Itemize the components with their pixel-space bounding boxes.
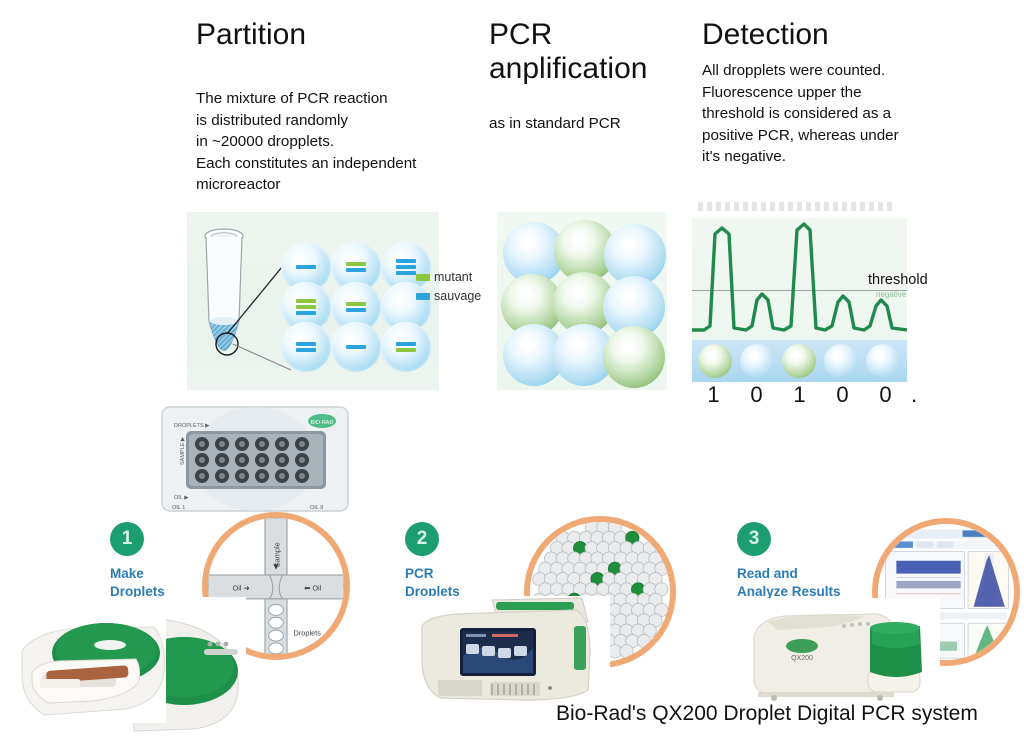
column-title-detection: Detection: [702, 18, 952, 52]
column-title-partition: Partition: [196, 18, 446, 52]
svg-text:⬅ Oil: ⬅ Oil: [304, 584, 322, 593]
partition-figure: [187, 212, 439, 390]
bit-value: 0: [821, 382, 864, 408]
partition-droplet-grid: [281, 242, 431, 372]
droplet-cell: [381, 322, 431, 372]
droplet-reader-instrument: QX200: [744, 598, 940, 704]
threshold-label: threshold: [868, 272, 928, 288]
step-number-2-value: 2: [417, 528, 428, 550]
bit-value: 0: [735, 382, 778, 408]
svg-text:OIL ▶: OIL ▶: [174, 495, 189, 501]
step-number-3-value: 3: [749, 528, 760, 550]
column-body-pcr: as in standard PCR: [489, 113, 679, 135]
detection-droplet-strip: [692, 340, 907, 382]
pcr-amplification-figure: [497, 212, 667, 390]
svg-text:BIO·RAD: BIO·RAD: [311, 420, 334, 426]
legend-item-mutant: mutant: [416, 268, 496, 287]
thermal-cycler-instrument: [404, 596, 610, 708]
slide-canvas: Partition The mixture of PCR reaction is…: [0, 0, 1024, 735]
dg8-cartridge: BIO·RAD DROPLETS ▶ OIL ▶ OIL 1 OIL 8 SAM…: [160, 403, 350, 518]
step-number-3: 3: [737, 522, 771, 556]
detected-droplet: [782, 344, 816, 378]
legend-swatch-sauvage: [416, 293, 430, 300]
svg-text:QX200: QX200: [791, 655, 813, 662]
droplet-cell: [331, 322, 381, 372]
svg-text:OIL 8: OIL 8: [310, 505, 323, 511]
legend-item-sauvage: sauvage: [416, 287, 496, 306]
detected-droplet: [698, 344, 732, 378]
bit-value: 1: [778, 382, 821, 408]
column-body-partition: The mixture of PCR reaction is distribut…: [196, 88, 466, 196]
svg-text:DROPLETS ▶: DROPLETS ▶: [174, 423, 210, 429]
detection-figure: threshold negative 1 0 1 0 0 .: [692, 200, 937, 395]
bit-ellipsis: .: [907, 382, 921, 408]
svg-text:OIL 1: OIL 1: [172, 505, 185, 511]
detected-droplet: [824, 344, 858, 378]
droplet-generator-instrument: [14, 597, 246, 735]
partition-legend: mutant sauvage: [416, 268, 496, 306]
binary-readout: 1 0 1 0 0 .: [692, 382, 922, 408]
bit-value: 0: [864, 382, 907, 408]
figure-caption: Bio-Rad's QX200 Droplet Digital PCR syst…: [556, 702, 978, 726]
detected-droplet: [866, 344, 900, 378]
step-number-1: 1: [110, 522, 144, 556]
legend-swatch-mutant: [416, 274, 430, 281]
svg-text:Droplets: Droplets: [294, 629, 322, 638]
step-label-3: Read and Analyze Results: [737, 565, 857, 600]
legend-label-mutant: mutant: [434, 268, 472, 287]
detected-droplet: [740, 344, 774, 378]
bit-value: 1: [692, 382, 735, 408]
chart-header-placeholder: [698, 202, 893, 211]
step-number-1-value: 1: [122, 528, 133, 550]
droplet-cell: [281, 322, 331, 372]
legend-label-sauvage: sauvage: [434, 287, 481, 306]
step-label-2: PCR Droplets: [405, 565, 495, 600]
svg-text:Oil ➜: Oil ➜: [232, 584, 249, 593]
negative-label: negative: [876, 290, 906, 299]
svg-text:SAMPLE ▶: SAMPLE ▶: [180, 436, 186, 465]
svg-text:▼: ▼: [271, 561, 280, 571]
column-title-pcr: PCR anplification: [489, 18, 689, 85]
amplified-droplet: [603, 326, 665, 388]
step-number-2: 2: [405, 522, 439, 556]
column-body-detection: All dropplets were counted. Fluorescence…: [702, 60, 952, 168]
step-label-1: Make Droplets: [110, 565, 200, 600]
